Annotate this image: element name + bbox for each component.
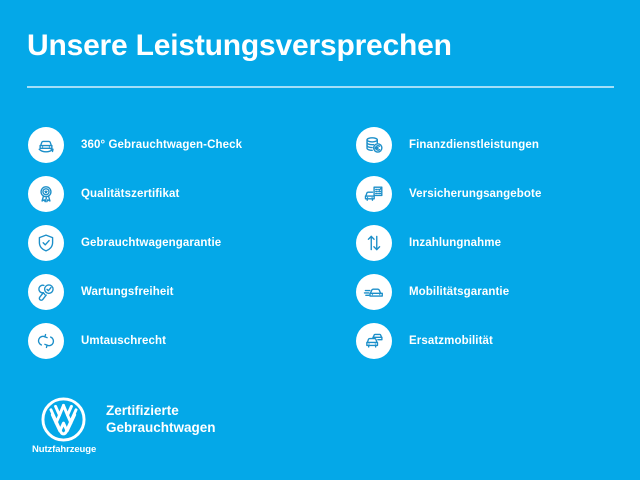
footer: Nutzfahrzeuge Zertifizierte Gebrauchtwag…: [28, 396, 428, 458]
volkswagen-logo: Nutzfahrzeuge: [32, 396, 94, 455]
feature-label: Finanzdienstleistungen: [409, 139, 539, 151]
coins-euro-icon: [356, 127, 392, 163]
feature-label: Versicherungsangebote: [409, 188, 541, 200]
exchange-arrows-icon: [28, 323, 64, 359]
feature-item[interactable]: Versicherungsangebote: [356, 169, 640, 218]
features-section: 360° Gebrauchtwagen-Check Qualitätszerti…: [0, 120, 640, 370]
feature-label: Qualitätszertifikat: [81, 188, 179, 200]
feature-item[interactable]: Gebrauchtwagengarantie: [28, 218, 318, 267]
promise-slide: Unsere Leistungsversprechen 360° Gebrauc…: [0, 0, 640, 480]
footer-claim-line2: Gebrauchtwagen: [106, 419, 216, 436]
footer-claim: Zertifizierte Gebrauchtwagen: [106, 402, 216, 437]
feature-label: Inzahlungnahme: [409, 237, 501, 249]
feature-item[interactable]: Umtauschrecht: [28, 316, 318, 365]
brand-subtitle: Nutzfahrzeuge: [32, 444, 94, 455]
feature-label: Ersatzmobilität: [409, 335, 493, 347]
feature-label: Gebrauchtwagengarantie: [81, 237, 221, 249]
feature-item[interactable]: Ersatzmobilität: [356, 316, 640, 365]
footer-claim-line1: Zertifizierte: [106, 402, 216, 419]
two-cars-icon: [356, 323, 392, 359]
feature-item[interactable]: Qualitätszertifikat: [28, 169, 318, 218]
shield-check-icon: [28, 225, 64, 261]
wrench-check-icon: [28, 274, 64, 310]
features-right-column: Finanzdienstleistungen: [356, 120, 640, 365]
features-left-column: 360° Gebrauchtwagen-Check Qualitätszerti…: [28, 120, 318, 365]
feature-label: Wartungsfreiheit: [81, 286, 174, 298]
feature-item[interactable]: Finanzdienstleistungen: [356, 120, 640, 169]
feature-label: Umtauschrecht: [81, 335, 166, 347]
feature-item[interactable]: Inzahlungnahme: [356, 218, 640, 267]
arrows-up-down-icon: [356, 225, 392, 261]
feature-label: Mobilitätsgarantie: [409, 286, 509, 298]
car-motion-icon: [356, 274, 392, 310]
vw-roundel-icon: [40, 396, 87, 443]
feature-item[interactable]: 360° Gebrauchtwagen-Check: [28, 120, 318, 169]
title-divider: [27, 86, 614, 88]
car-360-check-icon: [28, 127, 64, 163]
feature-item[interactable]: Wartungsfreiheit: [28, 267, 318, 316]
feature-item[interactable]: Mobilitätsgarantie: [356, 267, 640, 316]
page-title: Unsere Leistungsversprechen: [27, 29, 452, 62]
feature-label: 360° Gebrauchtwagen-Check: [81, 139, 242, 151]
award-rosette-icon: [28, 176, 64, 212]
car-checklist-icon: [356, 176, 392, 212]
